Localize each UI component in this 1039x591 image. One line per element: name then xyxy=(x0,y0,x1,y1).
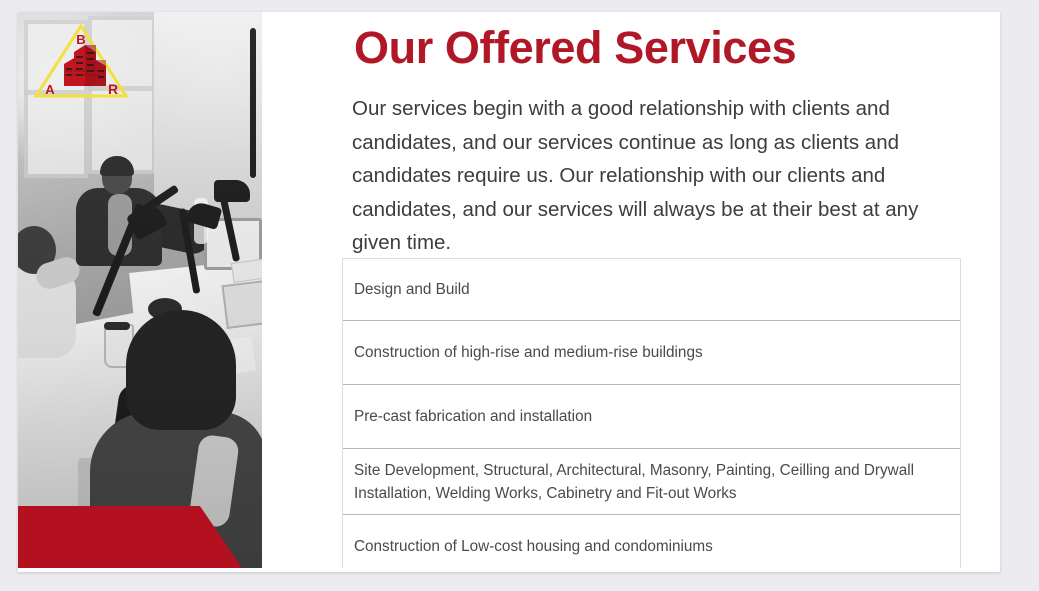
screenshot-viewport: B A R BAR BUILDERS AND DEVELOPMENT CORP.… xyxy=(0,0,1039,591)
services-table: Design and Build Construction of high-ri… xyxy=(342,258,961,572)
floor-lamp-pole xyxy=(250,28,256,178)
person-foreground-head xyxy=(126,310,236,430)
logo-letter-b: B xyxy=(76,32,85,47)
table-row[interactable]: Site Development, Structural, Architectu… xyxy=(343,449,960,515)
bar-construction-logo: B A R BAR BUILDERS AND DEVELOPMENT CORP. xyxy=(28,12,134,106)
logo-microtext-line-2: DEVELOPMENT CORP. xyxy=(64,73,100,77)
desk-lamp-far-head xyxy=(214,180,250,202)
page-title: Our Offered Services xyxy=(354,22,796,74)
service-label: Construction of high-rise and medium-ris… xyxy=(354,341,703,364)
slide-content: Our Offered Services Our services begin … xyxy=(262,12,1000,572)
coffee-cup-lid xyxy=(104,322,130,330)
laptop xyxy=(222,279,262,329)
service-label: Pre-cast fabrication and installation xyxy=(354,405,592,428)
table-row[interactable]: Pre-cast fabrication and installation xyxy=(343,385,960,449)
service-label: Construction of Low-cost housing and con… xyxy=(354,535,713,558)
table-row[interactable]: Construction of high-rise and medium-ris… xyxy=(343,321,960,385)
service-label: Design and Build xyxy=(354,278,470,301)
logo-letter-a: A xyxy=(45,82,55,97)
service-label: Site Development, Structural, Architectu… xyxy=(354,459,950,505)
slide-canvas: B A R BAR BUILDERS AND DEVELOPMENT CORP.… xyxy=(18,12,1000,572)
table-row[interactable]: Design and Build xyxy=(343,259,960,321)
intro-paragraph: Our services begin with a good relations… xyxy=(352,92,970,260)
logo-microtext: BAR BUILDERS AND DEVELOPMENT CORP. xyxy=(54,70,110,77)
logo-letter-r: R xyxy=(108,81,118,97)
table-row[interactable]: Construction of Low-cost housing and con… xyxy=(343,515,960,572)
slide-bottom-edge xyxy=(18,568,1000,572)
